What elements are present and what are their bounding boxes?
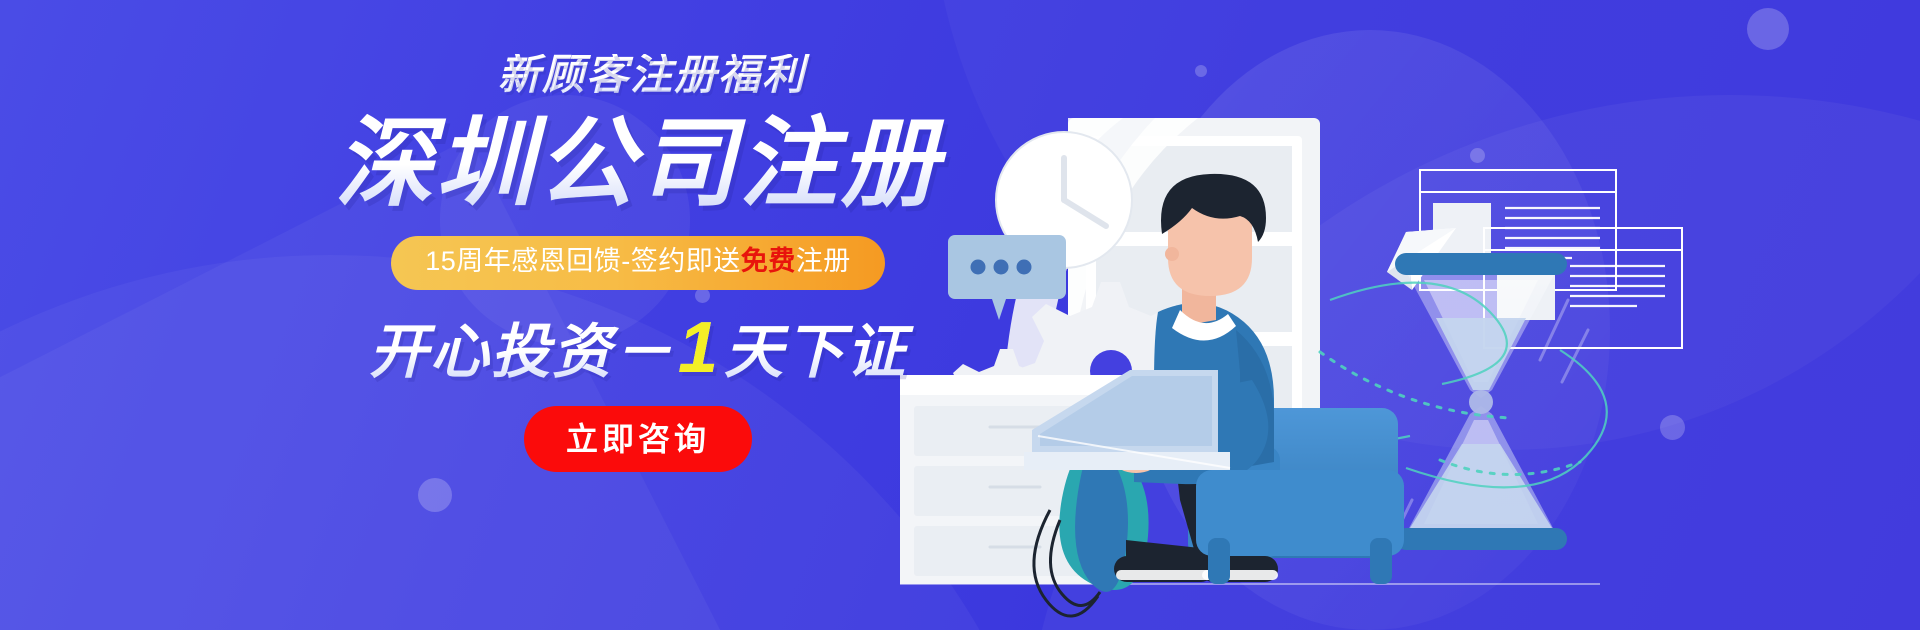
badge-prefix-text: 15周年感恩回馈-签约即送	[425, 246, 741, 276]
eyebrow-text: 新顾客注册福利	[346, 54, 958, 96]
promo-banner: 新顾客注册福利 深圳公司注册 15周年感恩回馈-签约即送免费注册 开心投资－1天…	[0, 0, 1920, 630]
badge-highlight-text: 免费	[741, 246, 796, 276]
promo-badge: 15周年感恩回馈-签约即送免费注册	[391, 236, 885, 290]
tagline-number: 1	[674, 308, 724, 388]
tagline-suffix-text: 天下证	[724, 319, 907, 385]
banner-text-column: 新顾客注册福利 深圳公司注册 15周年感恩回馈-签约即送免费注册 开心投资－1天…	[318, 54, 958, 472]
tagline-prefix-text: 开心投资－	[369, 319, 674, 385]
tagline: 开心投资－1天下证	[318, 312, 958, 384]
badge-suffix-text: 注册	[796, 246, 851, 276]
illustration	[900, 0, 1920, 630]
background-dot	[418, 478, 452, 512]
consult-now-button[interactable]: 立即咨询	[524, 406, 752, 472]
page-title: 深圳公司注册	[318, 112, 958, 216]
